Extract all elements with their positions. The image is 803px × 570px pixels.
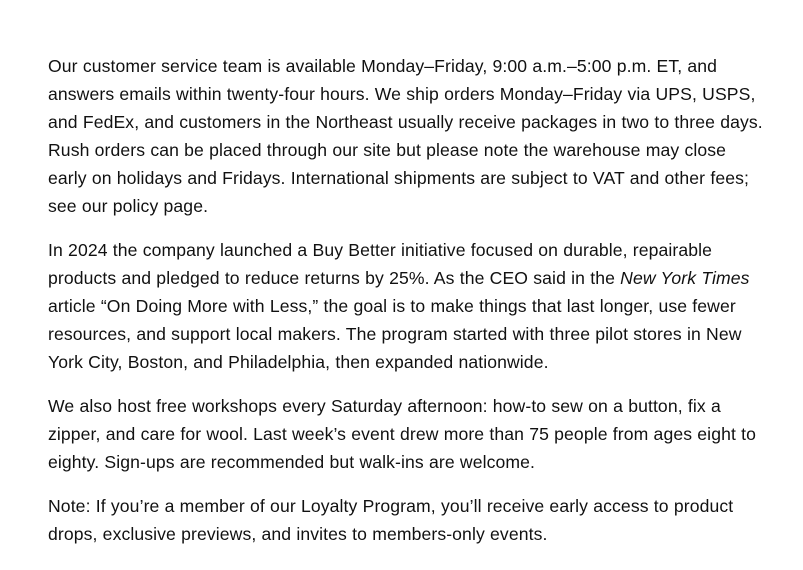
paragraph-shipping-hours: Our customer service team is available M… [48,52,766,220]
document-page: Our customer service team is available M… [0,0,803,570]
paragraph-workshops: We also host free workshops every Saturd… [48,392,766,476]
document-body: Our customer service team is available M… [48,52,766,548]
paragraph-loyalty-note: Note: If you’re a member of our Loyalty … [48,492,766,548]
paragraph-text-segment-2: article “On Doing More with Less,” the g… [48,296,742,372]
publication-title-italic: New York Times [620,268,749,288]
paragraph-buy-better-initiative: In 2024 the company launched a Buy Bette… [48,236,766,376]
paragraph-text-segment-1: In 2024 the company launched a Buy Bette… [48,240,712,288]
